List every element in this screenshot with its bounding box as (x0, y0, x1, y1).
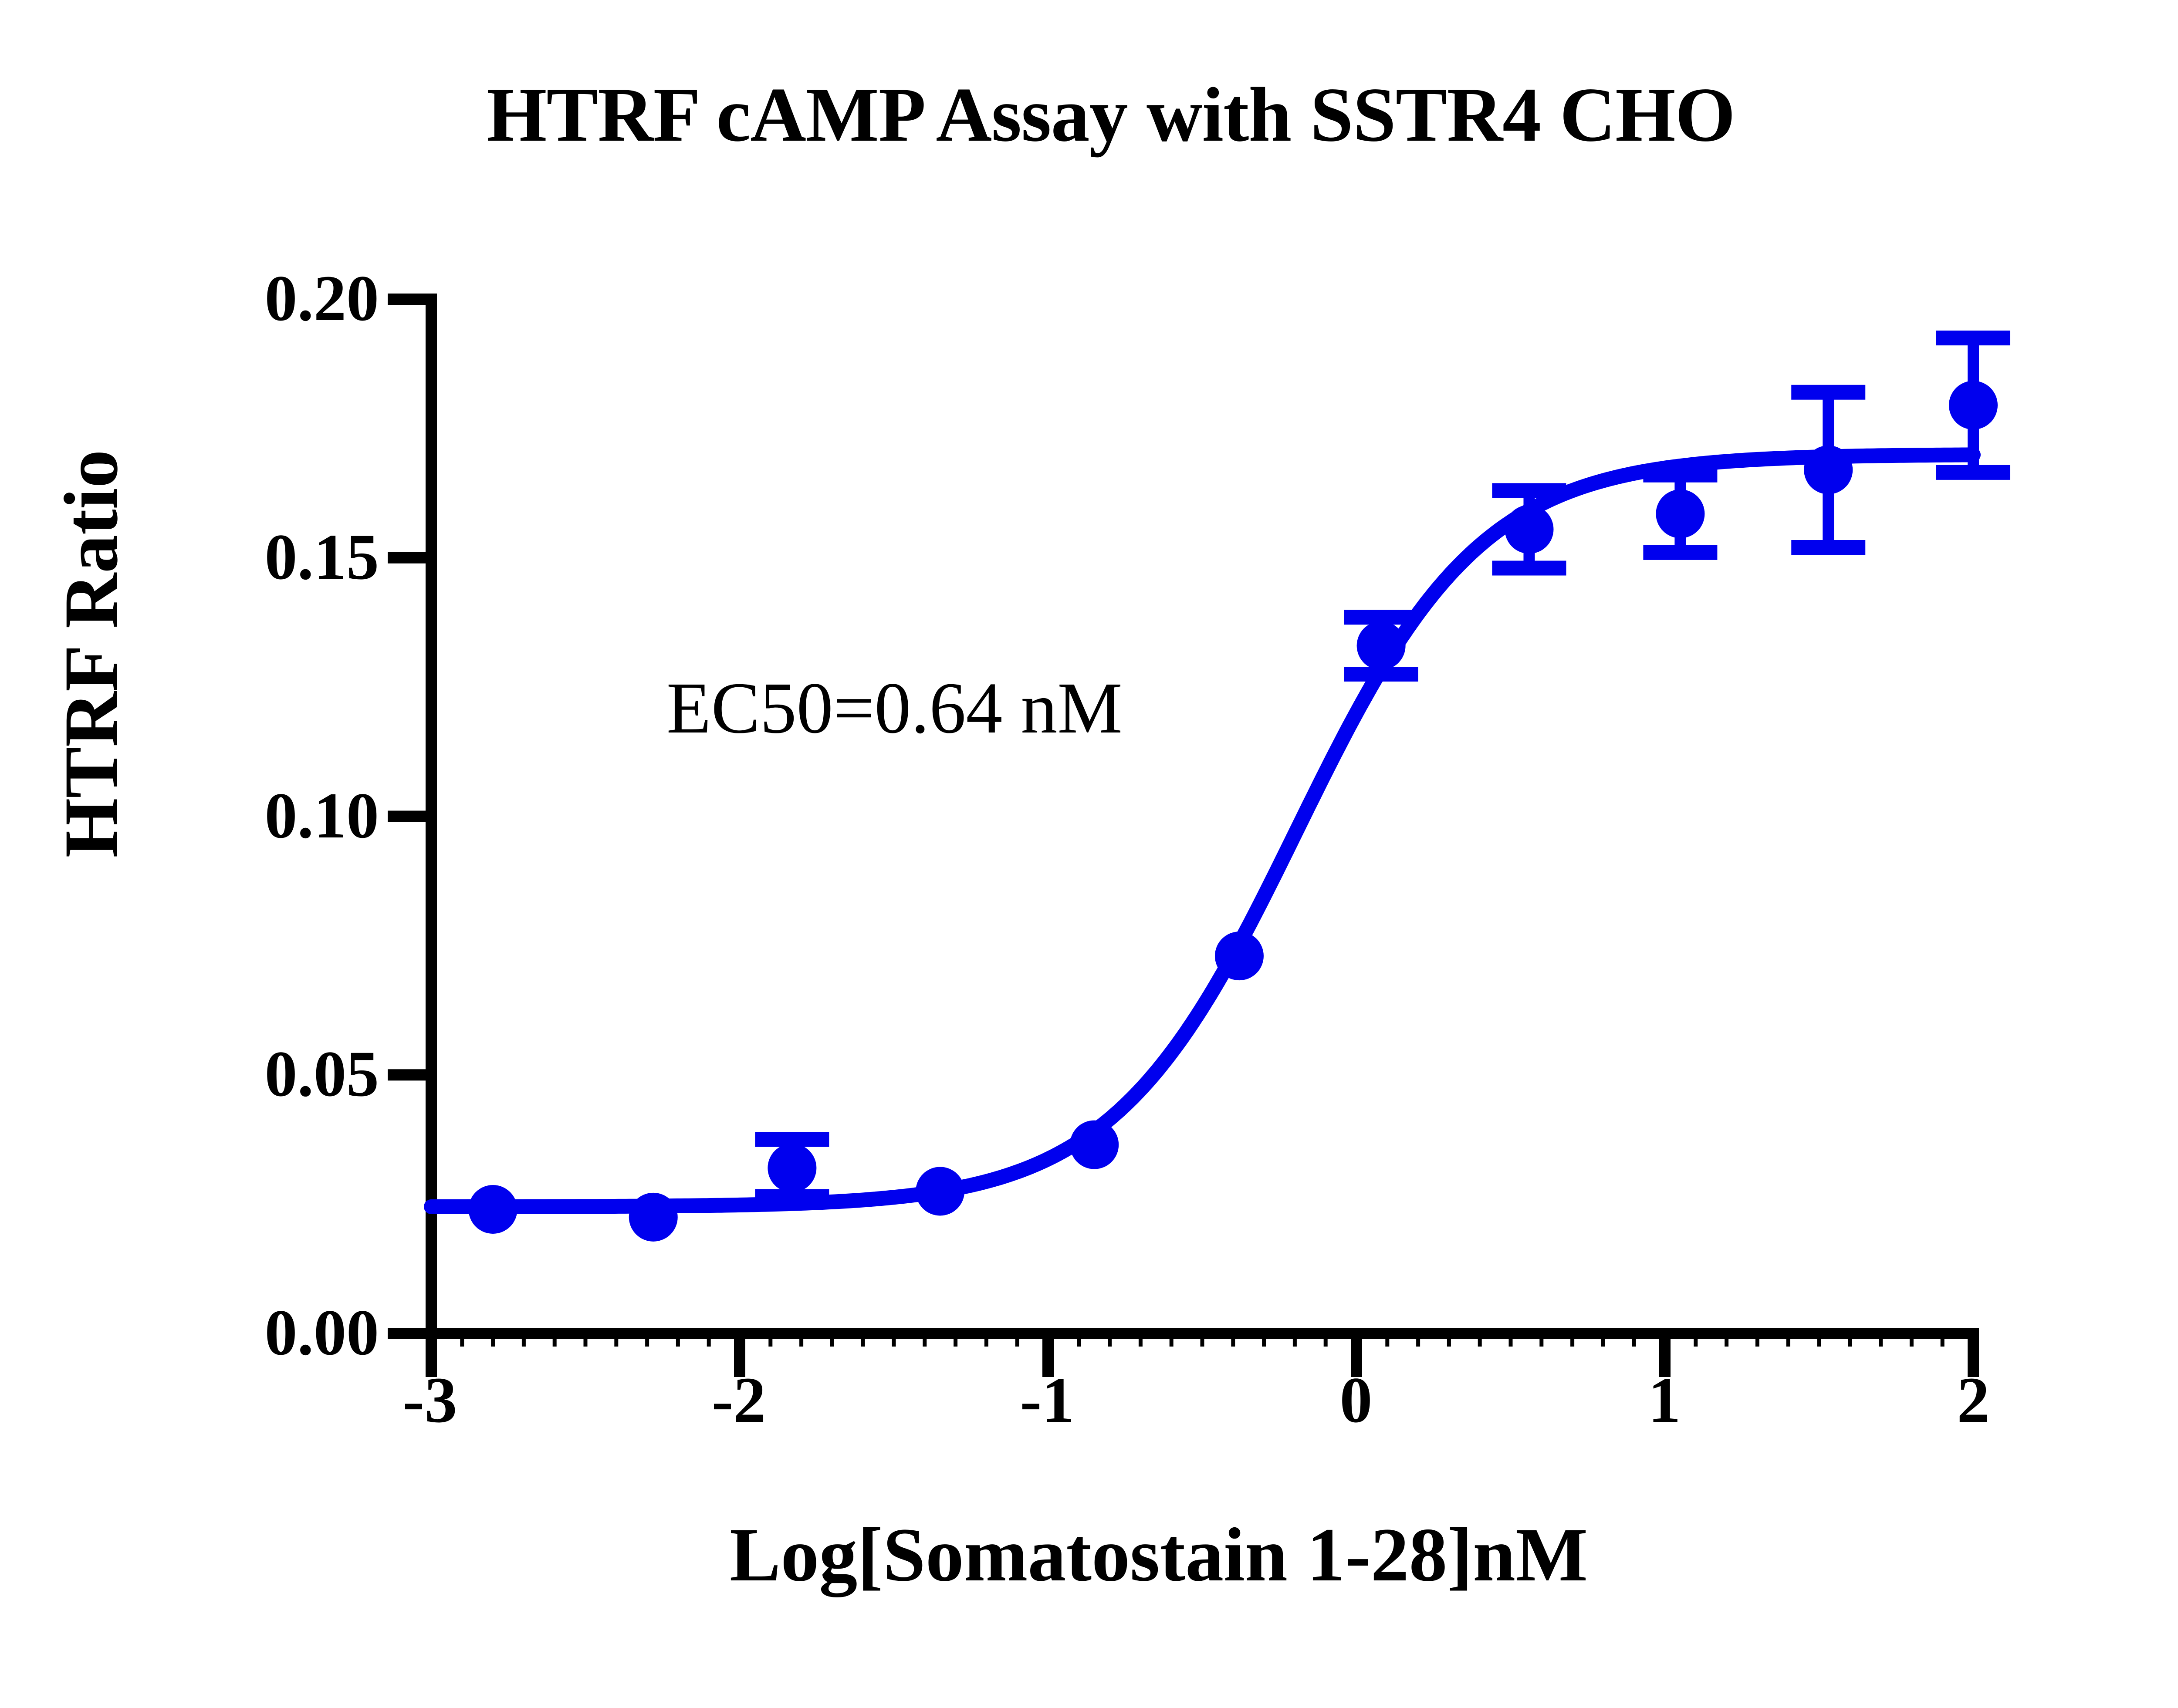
data-point (469, 1185, 517, 1234)
data-points (469, 381, 1998, 1241)
axis-lines (426, 294, 1979, 1333)
fit-curve (431, 455, 1973, 1206)
data-point (1215, 932, 1264, 980)
data-point (1656, 489, 1705, 538)
figure-canvas: HTRF cAMP Assay with SSTR4 CHO HTRF Rati… (0, 0, 2178, 1708)
plot-area (0, 0, 2178, 1708)
data-point (916, 1167, 964, 1215)
data-point (1804, 446, 1853, 494)
data-point (629, 1193, 678, 1242)
data-point (1070, 1121, 1119, 1169)
data-point (1505, 505, 1553, 554)
data-point (768, 1144, 816, 1192)
data-point (1949, 381, 1998, 429)
fit-curve-path (431, 455, 1973, 1206)
data-point (1357, 621, 1406, 670)
